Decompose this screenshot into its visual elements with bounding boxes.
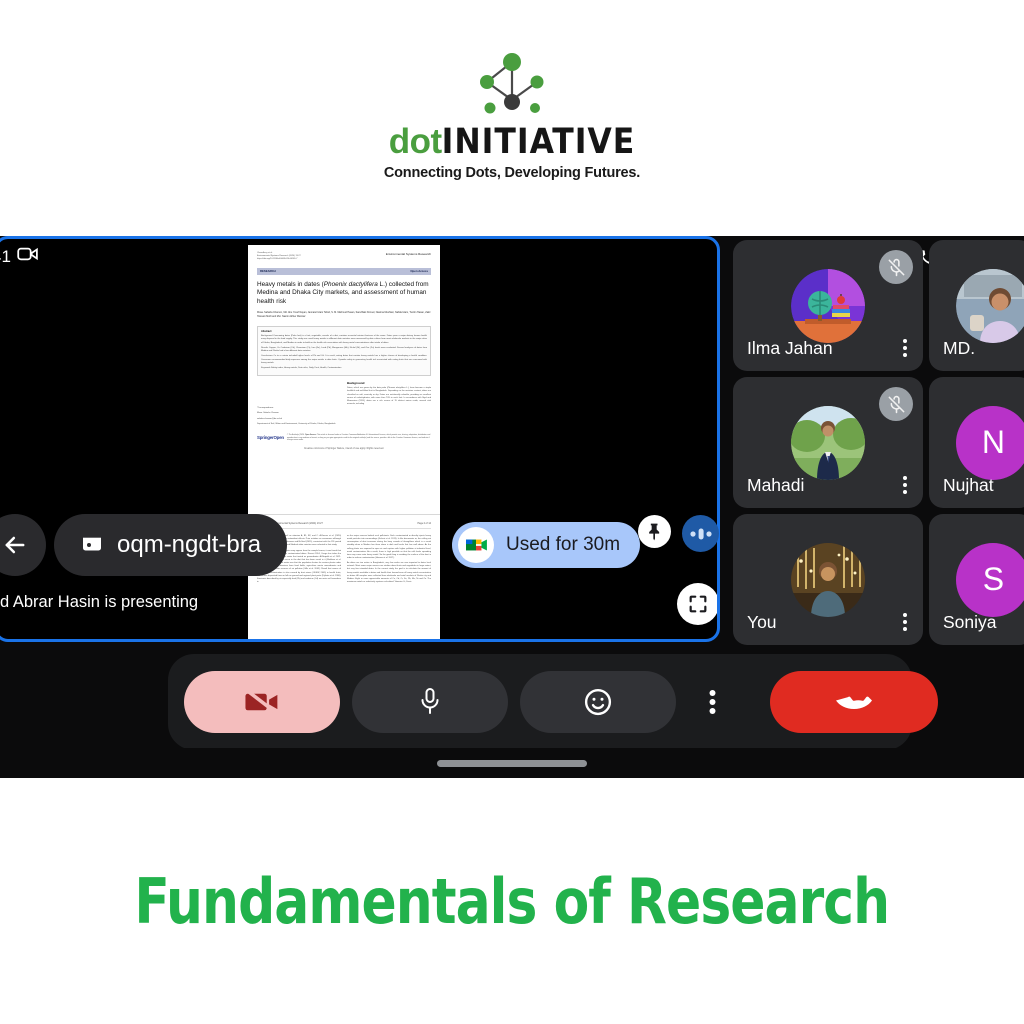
pin-icon[interactable] [638, 515, 671, 548]
meeting-code-text: oqm-ngdt-bra [117, 531, 261, 559]
document-columns: *Correspondence: Mosa. Sabaha Chamon sab… [257, 381, 431, 428]
doc-meta-line: https://doi.org/10.1186/s40068-024-00361… [257, 258, 301, 261]
participant-options-icon[interactable] [903, 613, 907, 631]
mic-muted-icon [879, 250, 913, 284]
abstract-keywords: Keywords Safety index, Heavy metals, Dat… [261, 367, 427, 370]
shared-document[interactable]: Chowdhury et al. Environmental Systems R… [248, 245, 440, 639]
usage-duration-label: Used for 30m [506, 534, 620, 556]
abstract-paragraph: Background Consuming dates (Palm fruit) … [261, 335, 427, 345]
brand-wordmark: dotINITIATIVE [389, 124, 636, 160]
participant-name: Nujhat [943, 475, 994, 496]
person-photo-avatar [956, 269, 1024, 343]
document-page-1: Chowdhury et al. Environmental Systems R… [248, 245, 440, 515]
document-journal: Environmental Systems Research [386, 252, 431, 256]
avatar-initial: S [956, 543, 1024, 617]
participant-tile-nujhat[interactable]: N Nujhat [929, 377, 1024, 508]
title-species: Phoenix dactylifera [324, 281, 378, 288]
participant-tile-you[interactable]: You [733, 514, 923, 645]
mic-muted-icon [879, 387, 913, 421]
camera-off-icon[interactable] [184, 671, 340, 733]
springer-license-text: © The Author(s) 2024. Open Access This a… [287, 434, 431, 442]
document-authors: Mosa. Sabaha Chamon, Md. Abu Yusuf Nayan… [257, 311, 431, 319]
more-options-icon[interactable] [682, 515, 719, 552]
ribbon-openaccess-label: Open Access [410, 269, 428, 273]
springer-open-block: SpringerOpen © The Author(s) 2024. Open … [257, 434, 431, 442]
android-nav-bar [0, 748, 1024, 778]
presentation-stage[interactable]: Chowdhury et al. Environmental Systems R… [0, 236, 720, 642]
abstract-paragraph: Conclusions Cu to a certain included hig… [261, 355, 427, 365]
springer-logo: SpringerOpen [257, 435, 284, 440]
document-meta-lines: Chowdhury et al. Environmental Systems R… [257, 252, 301, 262]
participant-tile-ilma-jahan[interactable]: Ilma Jahan [733, 240, 923, 371]
person-self-photo-avatar [791, 543, 865, 617]
brand-name-prefix: dot [389, 122, 442, 161]
footer-title-area: Fundamentals of Research [0, 778, 1024, 1024]
document-column-left: *Correspondence: Mosa. Sabaha Chamon sab… [257, 381, 341, 428]
participant-options-icon[interactable] [903, 339, 907, 357]
document-ribbon: RESEARCH Open Access [257, 268, 431, 275]
ribbon-research-label: RESEARCH [260, 269, 276, 273]
document-footer-note: Creative commons of Springer Nature, int… [257, 447, 431, 450]
fullscreen-expand-icon[interactable] [677, 583, 719, 625]
participant-tile-soniya[interactable]: S Soniya [929, 514, 1024, 645]
background-heading: Background [347, 381, 431, 385]
brand-tagline: Connecting Dots, Developing Futures. [384, 165, 640, 181]
participant-name: You [747, 612, 777, 633]
globe-books-avatar [791, 269, 865, 343]
document-abstract: Abstract Background Consuming dates (Pal… [257, 326, 431, 376]
brand-header: dotINITIATIVE Connecting Dots, Developin… [0, 0, 1024, 222]
participant-grid: Ilma Jahan MD. [733, 240, 1024, 645]
participant-tile-md[interactable]: MD. [929, 240, 1024, 371]
page2-column-right: on the major sources behind such polluta… [347, 535, 431, 586]
participant-tile-mahadi[interactable]: Mahadi [733, 377, 923, 508]
status-time: 41 [0, 247, 11, 267]
end-call-icon[interactable] [770, 671, 938, 733]
calendar-icon [80, 530, 104, 561]
title-part-1: Heavy metals in dates ( [257, 281, 324, 288]
abstract-paragraph: Results Copper, Cu Cadmium (Cd), Chromiu… [261, 347, 427, 353]
initial-avatar: S [956, 543, 1024, 617]
page-title: Fundamentals of Research [135, 865, 890, 938]
participant-options-icon[interactable] [903, 476, 907, 494]
emoji-smiley-icon[interactable] [520, 671, 676, 733]
presenting-status-text: d Abrar Hasin is presenting [0, 590, 206, 615]
microphone-icon[interactable] [352, 671, 508, 733]
call-control-bar [168, 654, 912, 750]
initial-avatar: N [956, 406, 1024, 480]
participant-name: MD. [943, 338, 975, 359]
dot-network-icon [452, 42, 572, 122]
camera-recording-icon [17, 246, 39, 267]
more-vertical-icon[interactable] [688, 671, 736, 733]
phone-screenshot: Chowdhury et al. Environmental Systems R… [0, 236, 1024, 778]
participant-name: Soniya [943, 612, 997, 633]
meeting-code-pill[interactable]: oqm-ngdt-bra [54, 514, 287, 576]
document-column-right: Background Dates, which are grown by the… [347, 381, 431, 428]
page2-header-right: Page 2 of 14 [417, 522, 431, 525]
status-bar-left: 41 [0, 246, 39, 267]
participant-name: Mahadi [747, 475, 804, 496]
usage-duration-chip[interactable]: Used for 30m [452, 522, 640, 568]
abstract-heading: Abstract [261, 330, 427, 333]
avatar-initial: N [956, 406, 1024, 480]
person-suit-photo-avatar [791, 406, 865, 480]
google-meet-icon [458, 527, 494, 563]
home-gesture-pill[interactable] [437, 760, 587, 767]
brand-name-main: INITIATIVE [442, 122, 636, 162]
participant-name: Ilma Jahan [747, 338, 833, 359]
document-title: Heavy metals in dates (Phoenix dactylife… [257, 281, 431, 306]
